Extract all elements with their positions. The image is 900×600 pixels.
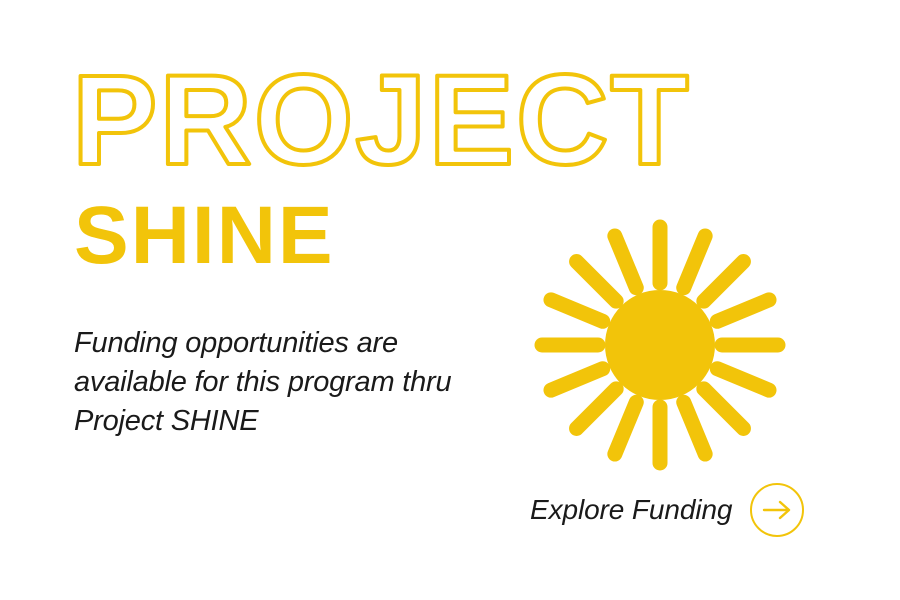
project-shine-banner: PROJECT SHINE Funding opportunities are … [0, 0, 900, 600]
cta-label: Explore Funding [530, 494, 732, 526]
page-title-outline: PROJECT [70, 58, 782, 176]
sun-core [605, 290, 715, 400]
description-text: Funding opportunities are available for … [74, 324, 494, 441]
explore-funding-cta[interactable]: Explore Funding [530, 483, 804, 537]
sun-icon [530, 215, 790, 475]
page-title-outline-text: PROJECT [72, 58, 691, 176]
cta-arrow-button[interactable] [750, 483, 804, 537]
arrow-right-icon [762, 499, 792, 521]
